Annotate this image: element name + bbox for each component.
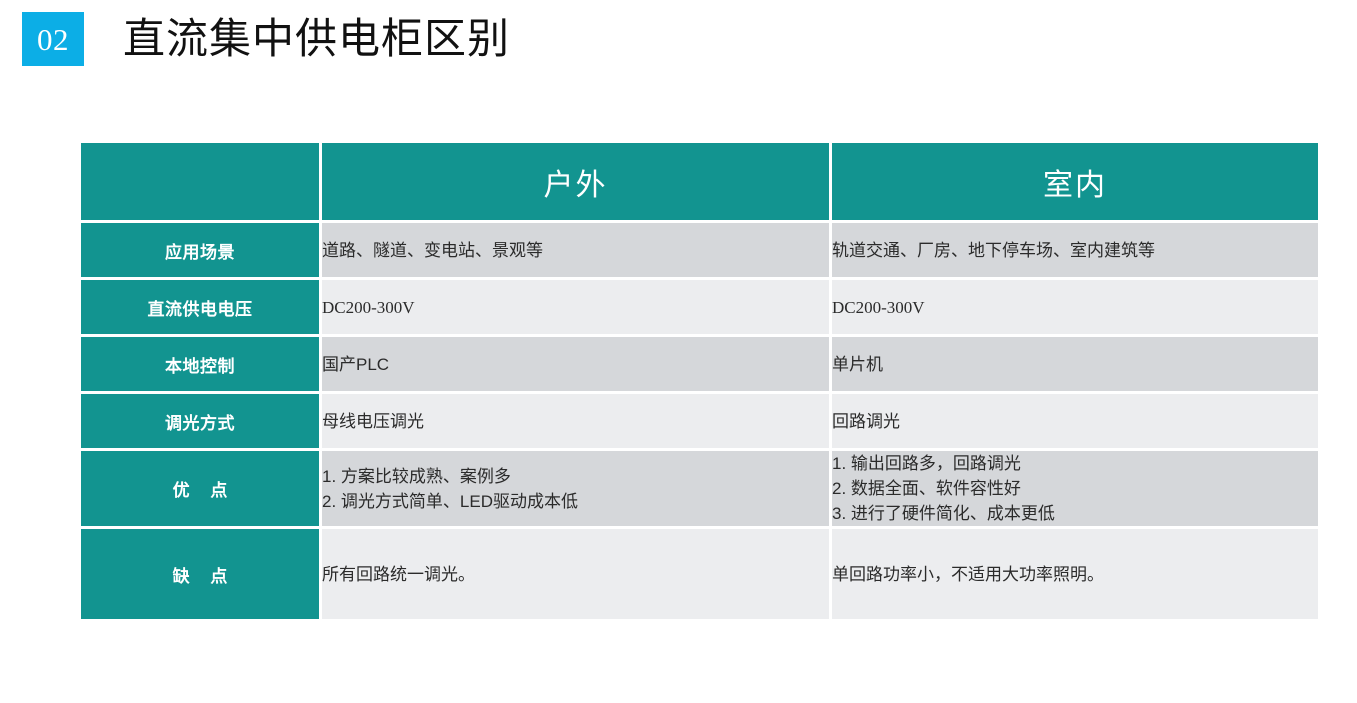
row-label-advantages: 优 点 bbox=[81, 451, 319, 529]
row-label-application-scenario: 应用场景 bbox=[81, 223, 319, 280]
cell-outdoor-disadvantages: 所有回路统一调光。 bbox=[319, 529, 829, 619]
table-row: 优 点 1. 方案比较成熟、案例多 2. 调光方式简单、LED驱动成本低 1. … bbox=[81, 451, 1318, 529]
page-title: 直流集中供电柜区别 bbox=[123, 8, 510, 70]
cell-outdoor-dc-supply-voltage: DC200-300V bbox=[319, 280, 829, 337]
table-row: 调光方式 母线电压调光 回路调光 bbox=[81, 394, 1318, 451]
table-row: 本地控制 国产PLC 单片机 bbox=[81, 337, 1318, 394]
cell-indoor-dc-supply-voltage: DC200-300V bbox=[829, 280, 1318, 337]
cell-outdoor-application-scenario: 道路、隧道、变电站、景观等 bbox=[319, 223, 829, 280]
table-header-corner bbox=[81, 143, 319, 223]
cell-indoor-disadvantages: 单回路功率小，不适用大功率照明。 bbox=[829, 529, 1318, 619]
row-label-dimming-method: 调光方式 bbox=[81, 394, 319, 451]
page-header: 02 直流集中供电柜区别 bbox=[0, 0, 1357, 110]
table-header-indoor: 室内 bbox=[829, 143, 1318, 223]
table-row: 直流供电电压 DC200-300V DC200-300V bbox=[81, 280, 1318, 337]
row-label-local-control: 本地控制 bbox=[81, 337, 319, 394]
row-label-dc-supply-voltage: 直流供电电压 bbox=[81, 280, 319, 337]
row-label-disadvantages: 缺 点 bbox=[81, 529, 319, 619]
list-item: 2. 调光方式简单、LED驱动成本低 bbox=[322, 489, 829, 514]
cell-indoor-dimming-method: 回路调光 bbox=[829, 394, 1318, 451]
list-item: 1. 输出回路多，回路调光 bbox=[832, 451, 1318, 476]
table-header-outdoor: 户外 bbox=[319, 143, 829, 223]
section-number-label: 02 bbox=[37, 24, 69, 55]
list-item: 1. 方案比较成熟、案例多 bbox=[322, 464, 829, 489]
table-header-row: 户外 室内 bbox=[81, 143, 1318, 223]
table-row: 缺 点 所有回路统一调光。 单回路功率小，不适用大功率照明。 bbox=[81, 529, 1318, 619]
cell-indoor-application-scenario: 轨道交通、厂房、地下停车场、室内建筑等 bbox=[829, 223, 1318, 280]
comparison-table: 户外 室内 应用场景 道路、隧道、变电站、景观等 轨道交通、厂房、地下停车场、室… bbox=[81, 143, 1318, 619]
cell-outdoor-advantages: 1. 方案比较成熟、案例多 2. 调光方式简单、LED驱动成本低 bbox=[319, 451, 829, 529]
cell-indoor-local-control: 单片机 bbox=[829, 337, 1318, 394]
list-item: 3. 进行了硬件简化、成本更低 bbox=[832, 501, 1318, 526]
cell-outdoor-dimming-method: 母线电压调光 bbox=[319, 394, 829, 451]
cell-indoor-advantages: 1. 输出回路多，回路调光 2. 数据全面、软件容性好 3. 进行了硬件简化、成… bbox=[829, 451, 1318, 529]
table-row: 应用场景 道路、隧道、变电站、景观等 轨道交通、厂房、地下停车场、室内建筑等 bbox=[81, 223, 1318, 280]
list-item: 2. 数据全面、软件容性好 bbox=[832, 476, 1318, 501]
cell-outdoor-local-control: 国产PLC bbox=[319, 337, 829, 394]
section-number-badge: 02 bbox=[22, 12, 84, 66]
